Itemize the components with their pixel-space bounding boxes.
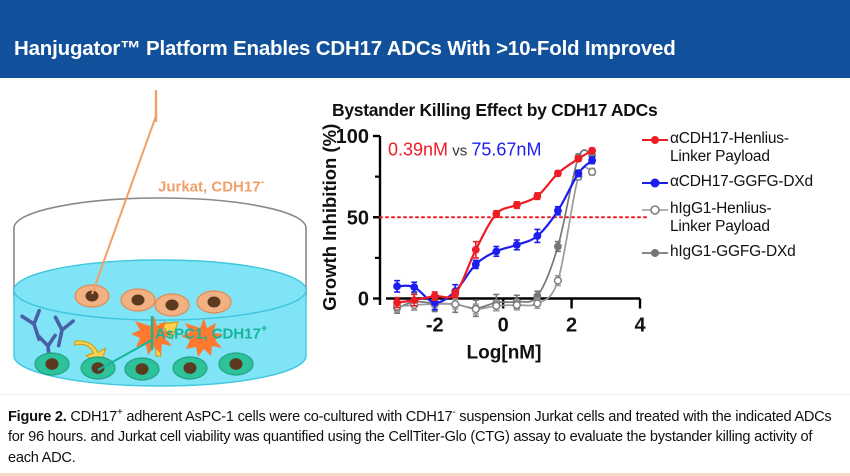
data-point — [393, 282, 401, 290]
data-point — [472, 246, 480, 254]
legend-item-acdh17-ggfg-dxd[interactable]: αCDH17-GGFG-DXd — [640, 173, 850, 193]
series-1 — [393, 156, 596, 309]
data-point — [575, 169, 583, 177]
chart-legend: αCDH17-Henlius- Linker Payload αCDH17-GG… — [640, 130, 850, 270]
banner-line-1: Hanjugator™ Platform Enables CDH17 ADCs … — [14, 37, 676, 60]
data-point — [410, 296, 418, 304]
legend-marker-red-filled-circle-icon — [640, 130, 670, 150]
x-tick-label-0: 0 — [498, 315, 509, 337]
data-point — [452, 301, 459, 308]
coculture-illustration: Jurkat, CDH17- AsPC1, CDH17+ — [0, 78, 330, 394]
legend-item-higg1-henlius[interactable]: hIgG1-Henlius- Linker Payload — [640, 200, 850, 236]
data-point — [513, 241, 521, 249]
legend-marker-gray-filled-circle-icon — [640, 243, 670, 263]
y-tick-label-0: 0 — [358, 289, 369, 311]
figure-caption: Figure 2. CDH17+ adherent AsPC-1 cells w… — [8, 403, 832, 468]
data-point — [472, 306, 479, 313]
data-point — [554, 243, 562, 251]
legend-item-acdh17-henlius[interactable]: αCDH17-Henlius- Linker Payload — [640, 130, 850, 166]
x-tick-label--2: -2 — [426, 315, 444, 337]
data-point — [513, 201, 521, 209]
series-line-1 — [397, 160, 592, 302]
caption-part-1: CDH17 — [67, 409, 117, 425]
series-3 — [393, 150, 596, 316]
legend-item-higg1-ggfg-dxd[interactable]: hIgG1-GGFG-DXd — [640, 243, 850, 263]
data-point — [554, 277, 561, 284]
legend-marker-blue-filled-circle-icon — [640, 173, 670, 193]
series-line-3 — [397, 150, 592, 308]
series-line-2 — [397, 167, 592, 309]
data-point — [533, 232, 541, 240]
series-0 — [393, 147, 596, 308]
plot-area: Growth Inhibition (%)050100-2024Log[nM]0… — [322, 122, 652, 384]
series-2 — [394, 167, 596, 314]
legend-marker-gray-open-circle-icon — [640, 200, 670, 220]
data-point — [492, 247, 500, 255]
data-point — [410, 283, 418, 291]
legend-label-3: hIgG1-GGFG-DXd — [670, 243, 796, 261]
dish-diagram — [0, 78, 330, 394]
data-point — [451, 290, 459, 298]
caption-label: Figure 2. — [8, 409, 67, 425]
chart-panel: Bystander Killing Effect by CDH17 ADCs G… — [322, 78, 850, 394]
y-tick-label-50: 50 — [347, 207, 369, 229]
data-point — [554, 207, 562, 215]
legend-label-2: hIgG1-Henlius- Linker Payload — [670, 200, 771, 236]
data-point — [513, 302, 520, 309]
data-point — [533, 192, 541, 200]
data-point — [588, 156, 596, 164]
ic50-annotation: 0.39nM vs 75.67nM — [388, 140, 541, 160]
figure-page: Hanjugator™ Platform Enables CDH17 ADCs … — [0, 0, 850, 476]
data-point — [554, 169, 562, 177]
x-axis-label: Log[nM] — [467, 343, 542, 364]
y-tick-label-100: 100 — [336, 126, 369, 148]
chart-title: Bystander Killing Effect by CDH17 ADCs — [332, 100, 657, 121]
data-point — [589, 168, 596, 175]
data-point — [492, 210, 500, 218]
figure-body: Jurkat, CDH17- AsPC1, CDH17+ Bystander K… — [0, 78, 850, 394]
x-tick-label-4: 4 — [634, 315, 646, 337]
figure-caption-block: Figure 2. CDH17+ adherent AsPC-1 cells w… — [0, 394, 850, 476]
caption-part-2: adherent AsPC-1 cells were co-cultured w… — [123, 409, 453, 425]
title-banner: Hanjugator™ Platform Enables CDH17 ADCs … — [0, 0, 850, 78]
x-tick-label-2: 2 — [566, 315, 577, 337]
data-point — [431, 292, 439, 300]
data-point — [534, 300, 541, 307]
data-point — [493, 302, 500, 309]
data-point — [588, 147, 596, 155]
y-axis-label: Growth Inhibition (%) — [322, 124, 340, 311]
jurkat-label: Jurkat, CDH17- — [158, 176, 264, 196]
data-point — [393, 299, 401, 307]
legend-label-0: αCDH17-Henlius- Linker Payload — [670, 130, 789, 166]
data-point — [575, 155, 583, 163]
legend-label-1: αCDH17-GGFG-DXd — [670, 173, 813, 191]
aspc1-label: AsPC1, CDH17+ — [155, 323, 267, 343]
data-point — [472, 260, 480, 268]
